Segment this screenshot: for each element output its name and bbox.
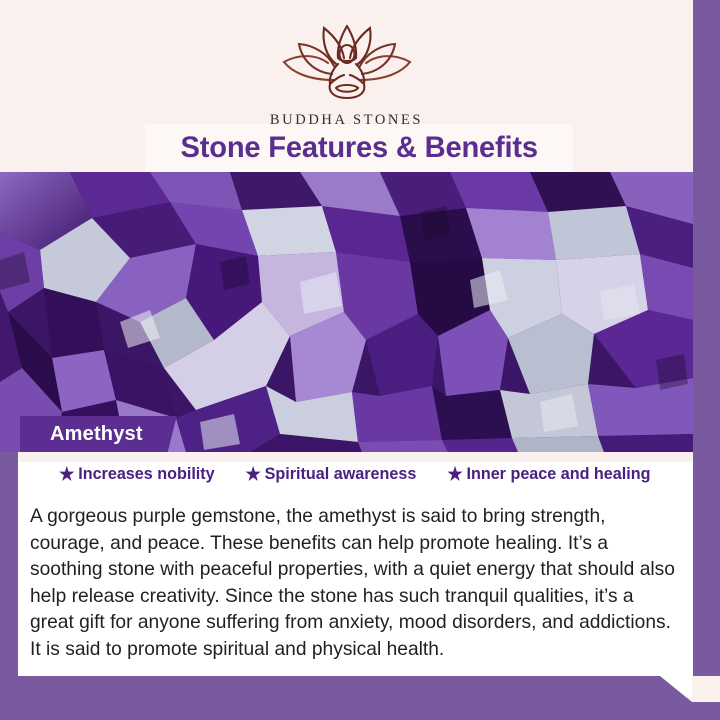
lotus-meditation-icon xyxy=(272,18,422,106)
bottom-accent-bar xyxy=(0,676,720,720)
header-section: BUDDHA STONES Stone Features & Benefits xyxy=(0,0,693,172)
benefit-item-2: ★ Inner peace and healing xyxy=(448,464,651,484)
benefit-label: Spiritual awareness xyxy=(264,464,416,484)
benefit-label: Inner peace and healing xyxy=(467,464,651,484)
benefit-item-1: ★ Spiritual awareness xyxy=(245,464,416,484)
stone-name: Amethyst xyxy=(50,423,143,446)
star-icon: ★ xyxy=(59,465,74,483)
right-accent-bar xyxy=(693,0,720,720)
body-top-strip xyxy=(18,452,693,462)
content-card: BUDDHA STONES Stone Features & Benefits xyxy=(0,0,693,720)
stone-photo: Amethyst xyxy=(0,172,693,452)
star-icon: ★ xyxy=(245,465,260,483)
benefit-item-0: ★ Increases nobility xyxy=(59,464,215,484)
star-icon: ★ xyxy=(448,465,463,483)
brand-logo: BUDDHA STONES xyxy=(0,18,693,129)
page-title-band: Stone Features & Benefits xyxy=(145,124,573,172)
stone-description: A gorgeous purple gemstone, the amethyst… xyxy=(30,503,675,662)
benefits-list: ★ Increases nobility ★ Spiritual awarene… xyxy=(18,464,693,484)
stone-name-badge: Amethyst xyxy=(20,416,177,452)
page-title: Stone Features & Benefits xyxy=(180,131,537,165)
benefit-label: Increases nobility xyxy=(78,464,214,484)
infographic-page: BUDDHA STONES Stone Features & Benefits xyxy=(0,0,720,720)
